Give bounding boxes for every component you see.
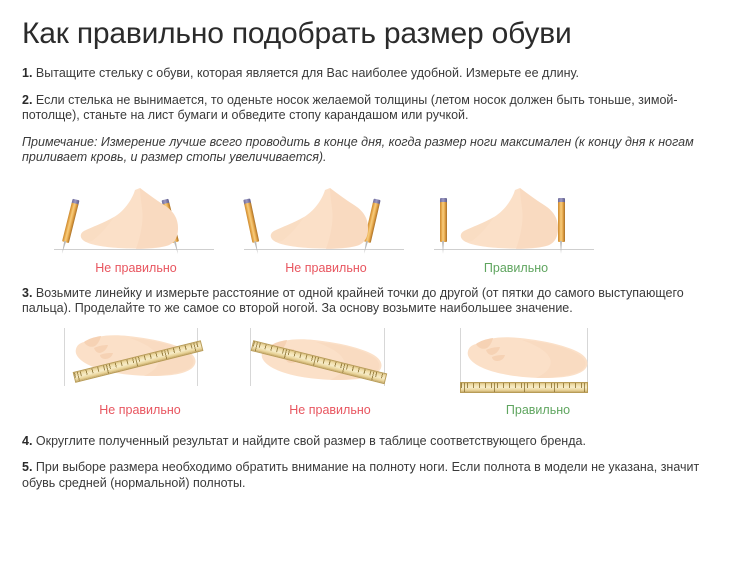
illustration-stage xyxy=(238,180,408,258)
page-title: Как правильно подобрать размер обуви xyxy=(22,0,728,54)
foot-side-icon xyxy=(78,188,188,250)
step-item: 3. Возьмите линейку и измерьте расстояни… xyxy=(22,286,728,317)
step-text: Вытащите стельку с обуви, которая являет… xyxy=(36,66,579,80)
illustration-cell: Не правильно xyxy=(242,328,412,418)
illustration-stage xyxy=(450,328,620,400)
step-text: Возьмите линейку и измерьте расстояние о… xyxy=(22,286,684,316)
illustration-caption: Правильно xyxy=(450,402,620,418)
illustration-row-pencil: Не правильно Не пр xyxy=(48,180,728,276)
illustration-cell: Правильно xyxy=(450,328,620,418)
ruler-icon xyxy=(460,382,588,393)
illustration-stage xyxy=(242,328,412,400)
foot-side-icon xyxy=(268,188,378,250)
step-number: 1. xyxy=(22,66,32,80)
pencil-icon xyxy=(243,198,261,250)
foot-side-icon xyxy=(458,188,568,250)
step-number: 3. xyxy=(22,286,32,300)
step-item: 4. Округлите полученный результат и найд… xyxy=(22,434,728,450)
illustration-caption: Не правильно xyxy=(242,402,412,418)
illustration-cell: Правильно xyxy=(428,180,598,276)
guide-line xyxy=(460,328,461,386)
guide-line xyxy=(250,328,251,386)
guide-line xyxy=(64,328,65,386)
shoe-size-guide-page: Как правильно подобрать размер обуви 1. … xyxy=(0,0,750,564)
steps-bottom-group: 4. Округлите полученный результат и найд… xyxy=(22,434,728,492)
illustration-stage xyxy=(48,180,218,258)
pencil-icon xyxy=(440,198,447,250)
step-text: Если стелька не вынимается, то оденьте н… xyxy=(22,93,678,123)
illustration-stage xyxy=(428,180,598,258)
steps-top-group: 1. Вытащите стельку с обуви, которая явл… xyxy=(22,66,728,166)
step-number: 4. xyxy=(22,434,32,448)
illustration-cell: Не правильно xyxy=(238,180,408,276)
illustration-caption: Не правильно xyxy=(52,402,222,418)
step-number: 2. xyxy=(22,93,32,107)
step-item: 2. Если стелька не вынимается, то оденьт… xyxy=(22,93,728,124)
foot-top-icon xyxy=(462,334,590,380)
pencil-icon xyxy=(60,198,79,250)
step-text: При выборе размера необходимо обратить в… xyxy=(22,460,699,490)
illustration-caption: Не правильно xyxy=(48,260,218,276)
illustration-stage xyxy=(52,328,222,400)
illustration-row-ruler: Не правильно xyxy=(52,328,728,418)
step-text: Округлите полученный результат и найдите… xyxy=(36,434,586,448)
step-item: 1. Вытащите стельку с обуви, которая явл… xyxy=(22,66,728,82)
step-number: 5. xyxy=(22,460,32,474)
note-text: Примечание: Измерение лучше всего провод… xyxy=(22,135,722,166)
step3-group: 3. Возьмите линейку и измерьте расстояни… xyxy=(22,286,728,317)
illustration-caption: Правильно xyxy=(428,260,598,276)
illustration-cell: Не правильно xyxy=(48,180,218,276)
illustration-cell: Не правильно xyxy=(52,328,222,418)
illustration-caption: Не правильно xyxy=(238,260,408,276)
step-item: 5. При выборе размера необходимо обратит… xyxy=(22,460,728,491)
